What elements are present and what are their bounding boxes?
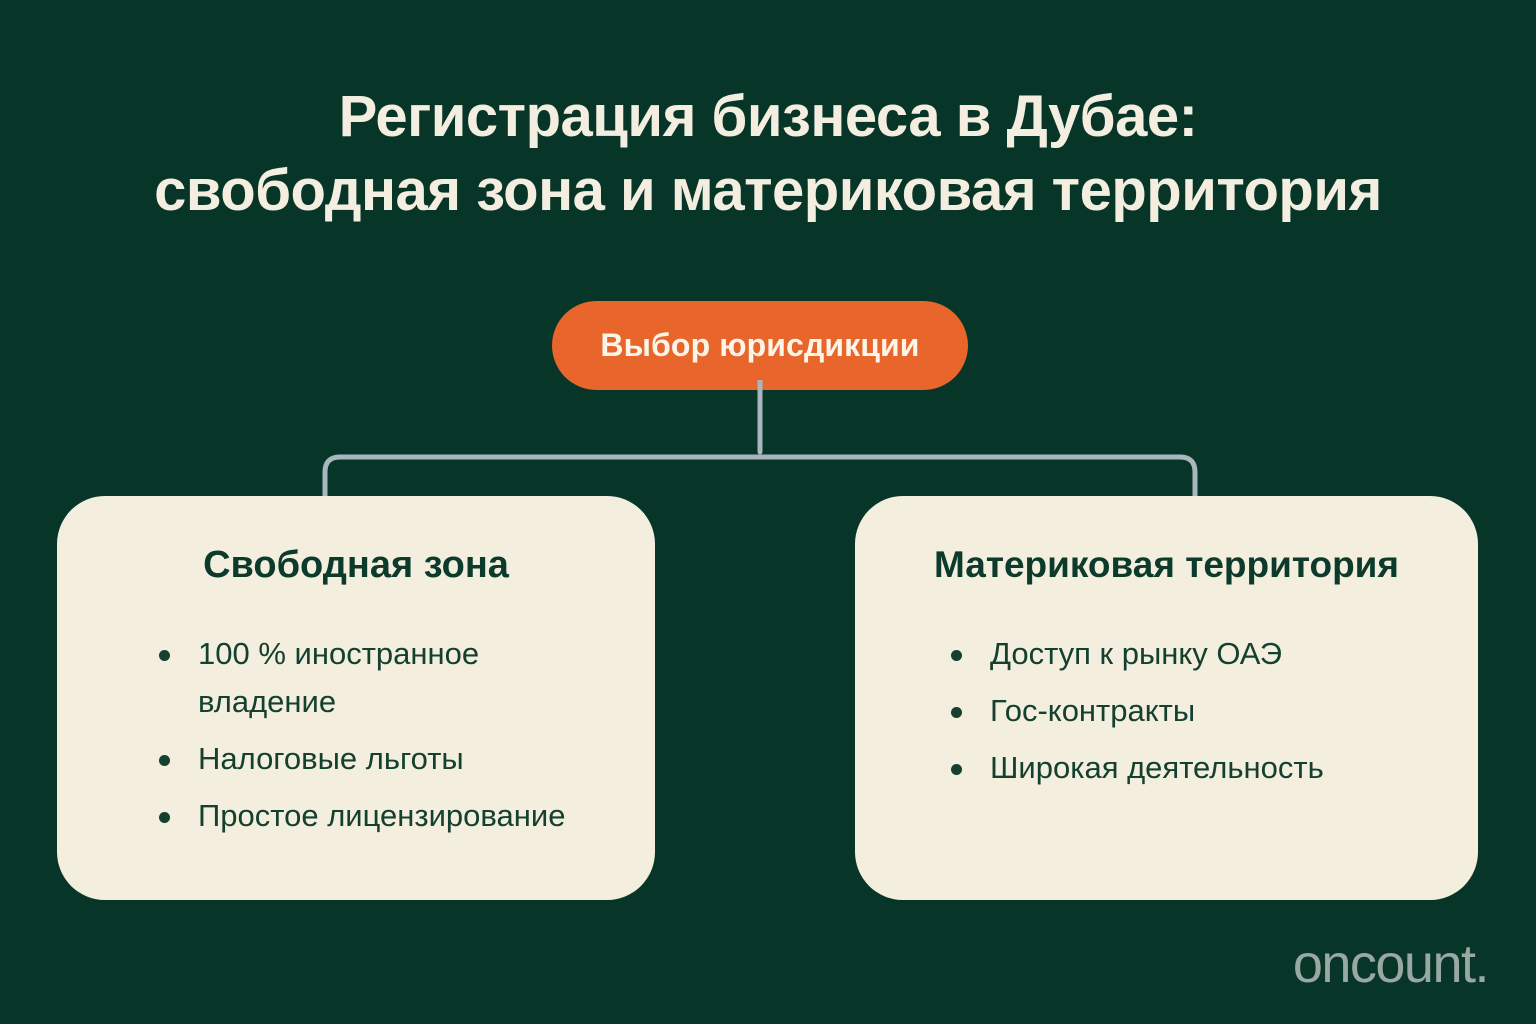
page-title: Регистрация бизнеса в Дубае: свободная з… — [0, 80, 1536, 228]
list-item: Доступ к рынку ОАЭ — [945, 630, 1444, 678]
branch-bullet-list-free-zone: 100 % иностранное владение Налоговые льг… — [91, 630, 621, 840]
root-node-label: Выбор юрисдикции — [600, 327, 919, 364]
branch-card-mainland: Материковая территория Доступ к рынку ОА… — [855, 496, 1478, 900]
list-item: Простое лицензирование — [153, 792, 621, 840]
list-item: Налоговые льготы — [153, 735, 621, 783]
branch-title-mainland: Материковая территория — [889, 542, 1444, 588]
list-item-label: Широкая деятельность — [990, 750, 1324, 785]
list-item-label: Налоговые льготы — [198, 741, 464, 776]
page-title-line-1: Регистрация бизнеса в Дубае: — [0, 80, 1536, 154]
branch-bullet-list-mainland: Доступ к рынку ОАЭ Гос-контракты Широкая… — [889, 630, 1444, 792]
bullet-dot-icon — [951, 707, 962, 718]
bullet-dot-icon — [951, 650, 962, 661]
list-item-label: Гос-контракты — [990, 693, 1195, 728]
root-node-jurisdiction[interactable]: Выбор юрисдикции — [552, 301, 968, 390]
page-title-line-2: свободная зона и материковая территория — [0, 154, 1536, 228]
bullet-dot-icon — [159, 812, 170, 823]
bullet-dot-icon — [951, 764, 962, 775]
bullet-dot-icon — [159, 650, 170, 661]
slide-canvas: Регистрация бизнеса в Дубае: свободная з… — [0, 0, 1536, 1024]
list-item-label: Простое лицензирование — [198, 798, 565, 833]
list-item-label: Доступ к рынку ОАЭ — [990, 636, 1282, 671]
list-item-label: 100 % иностранное владение — [198, 636, 479, 719]
branch-card-free-zone: Свободная зона 100 % иностранное владени… — [57, 496, 655, 900]
branch-title-free-zone: Свободная зона — [91, 542, 621, 588]
bullet-dot-icon — [159, 755, 170, 766]
list-item: Гос-контракты — [945, 687, 1444, 735]
list-item: Широкая деятельность — [945, 744, 1444, 792]
brand-logo: oncount. — [1293, 934, 1488, 994]
list-item: 100 % иностранное владение — [153, 630, 621, 726]
